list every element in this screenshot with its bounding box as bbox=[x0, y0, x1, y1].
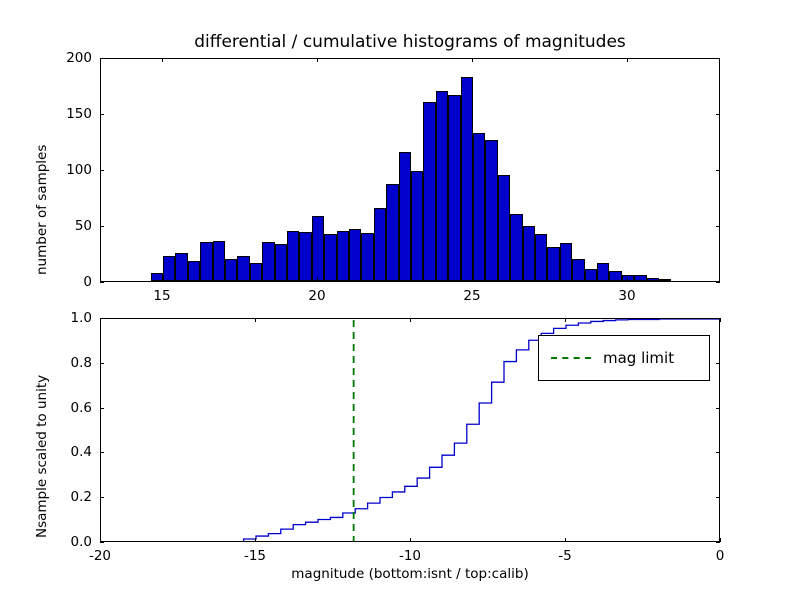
histogram-bar bbox=[200, 242, 212, 281]
bottom-y-tick-label: 1.0 bbox=[71, 310, 92, 326]
histogram-bar bbox=[609, 271, 621, 281]
histogram-bar bbox=[585, 269, 597, 281]
bottom-y-tick-label: 0.0 bbox=[71, 534, 92, 550]
histogram-bar bbox=[374, 208, 386, 281]
x-tick-mark bbox=[565, 538, 566, 542]
y-tick-mark bbox=[716, 408, 720, 409]
y-tick-mark bbox=[716, 226, 720, 227]
histogram-bar bbox=[597, 263, 609, 281]
x-tick-mark bbox=[317, 278, 318, 282]
histogram-bar bbox=[213, 241, 225, 281]
x-tick-mark bbox=[627, 278, 628, 282]
y-tick-mark bbox=[716, 318, 720, 319]
figure: differential / cumulative histograms of … bbox=[0, 0, 800, 600]
histogram-bar bbox=[250, 263, 262, 281]
y-tick-mark bbox=[100, 408, 104, 409]
y-tick-mark bbox=[100, 542, 104, 543]
y-tick-mark bbox=[100, 226, 104, 227]
y-tick-mark bbox=[716, 170, 720, 171]
top-axis-y-label: number of samples bbox=[34, 145, 50, 275]
histogram-bar bbox=[188, 261, 200, 281]
bottom-x-tick-label: -15 bbox=[244, 548, 266, 564]
histogram-bar bbox=[361, 233, 373, 281]
top-x-tick-label: 30 bbox=[618, 288, 635, 304]
bottom-axis-y-label: Nsample scaled to unity bbox=[34, 375, 50, 538]
x-tick-mark bbox=[317, 58, 318, 62]
x-tick-mark bbox=[472, 58, 473, 62]
bottom-y-tick-label: 0.2 bbox=[71, 489, 92, 505]
histogram-bar bbox=[423, 102, 435, 281]
histogram-bar bbox=[262, 242, 274, 281]
histogram-bar bbox=[572, 259, 584, 281]
top-y-tick-label: 150 bbox=[66, 106, 92, 122]
histogram-bar bbox=[349, 229, 361, 281]
x-tick-mark bbox=[255, 538, 256, 542]
y-tick-mark bbox=[716, 452, 720, 453]
y-tick-mark bbox=[716, 542, 720, 543]
top-y-tick-label: 200 bbox=[66, 50, 92, 66]
x-tick-mark bbox=[162, 58, 163, 62]
histogram-bar bbox=[659, 279, 671, 281]
bottom-x-tick-label: -5 bbox=[558, 548, 571, 564]
histogram-bar bbox=[225, 259, 237, 281]
x-tick-mark bbox=[162, 278, 163, 282]
y-tick-mark bbox=[100, 363, 104, 364]
bottom-x-tick-label: 0 bbox=[716, 548, 725, 564]
top-y-tick-label: 50 bbox=[75, 218, 92, 234]
y-tick-mark bbox=[100, 170, 104, 171]
histogram-bar bbox=[287, 231, 299, 281]
legend: mag limit bbox=[538, 335, 710, 381]
y-tick-mark bbox=[100, 282, 104, 283]
y-tick-mark bbox=[716, 58, 720, 59]
histogram-bar bbox=[175, 253, 187, 281]
y-tick-mark bbox=[100, 318, 104, 319]
histogram-bar bbox=[510, 214, 522, 281]
bottom-y-tick-label: 0.8 bbox=[71, 355, 92, 371]
histogram-bar bbox=[399, 152, 411, 281]
histogram-bar bbox=[560, 243, 572, 281]
histogram-bar bbox=[547, 247, 559, 281]
y-tick-mark bbox=[716, 497, 720, 498]
bottom-axis-x-label: magnitude (bottom:isnt / top:calib) bbox=[100, 566, 720, 582]
histogram-bar bbox=[312, 216, 324, 281]
x-tick-mark bbox=[720, 538, 721, 542]
histogram-bar bbox=[275, 244, 287, 281]
x-tick-mark bbox=[627, 58, 628, 62]
cumulative-histogram-axes: mag limit bbox=[100, 318, 720, 542]
x-tick-mark bbox=[410, 538, 411, 542]
histogram-bar bbox=[461, 77, 473, 281]
histogram-bar bbox=[386, 184, 398, 281]
top-x-tick-label: 15 bbox=[153, 288, 170, 304]
bottom-y-tick-label: 0.4 bbox=[71, 444, 92, 460]
mag-limit-legend-label: mag limit bbox=[603, 349, 674, 367]
bottom-x-tick-label: -20 bbox=[89, 548, 111, 564]
top-y-tick-label: 100 bbox=[66, 162, 92, 178]
histogram-bar bbox=[411, 171, 423, 281]
histogram-bar bbox=[647, 278, 659, 281]
y-tick-mark bbox=[100, 497, 104, 498]
x-tick-mark bbox=[410, 318, 411, 322]
histogram-bar bbox=[299, 232, 311, 281]
x-tick-mark bbox=[255, 318, 256, 322]
histogram-bar bbox=[436, 91, 448, 281]
histogram-bar bbox=[634, 275, 646, 281]
histogram-bar bbox=[448, 95, 460, 281]
top-y-tick-label: 0 bbox=[83, 274, 92, 290]
top-x-tick-label: 20 bbox=[308, 288, 325, 304]
y-tick-mark bbox=[100, 452, 104, 453]
histogram-bar bbox=[523, 226, 535, 281]
y-tick-mark bbox=[716, 114, 720, 115]
histogram-bar bbox=[163, 256, 175, 281]
x-tick-mark bbox=[720, 318, 721, 322]
histogram-bar bbox=[473, 133, 485, 281]
histogram-bar bbox=[237, 256, 249, 281]
chart-title: differential / cumulative histograms of … bbox=[100, 32, 720, 52]
mag-limit-legend-line bbox=[551, 357, 591, 359]
x-tick-mark bbox=[565, 318, 566, 322]
histogram-bar bbox=[337, 231, 349, 281]
differential-histogram-axes bbox=[100, 58, 720, 282]
bottom-x-tick-label: -10 bbox=[399, 548, 421, 564]
histogram-bar bbox=[485, 140, 497, 281]
histogram-bar bbox=[498, 175, 510, 281]
top-x-tick-label: 25 bbox=[463, 288, 480, 304]
y-tick-mark bbox=[716, 363, 720, 364]
histogram-bar bbox=[324, 234, 336, 281]
x-tick-mark bbox=[472, 278, 473, 282]
y-tick-mark bbox=[716, 282, 720, 283]
y-tick-mark bbox=[100, 58, 104, 59]
bottom-y-tick-label: 0.6 bbox=[71, 400, 92, 416]
y-tick-mark bbox=[100, 114, 104, 115]
histogram-bar bbox=[535, 234, 547, 281]
differential-histogram-plot bbox=[101, 59, 719, 281]
